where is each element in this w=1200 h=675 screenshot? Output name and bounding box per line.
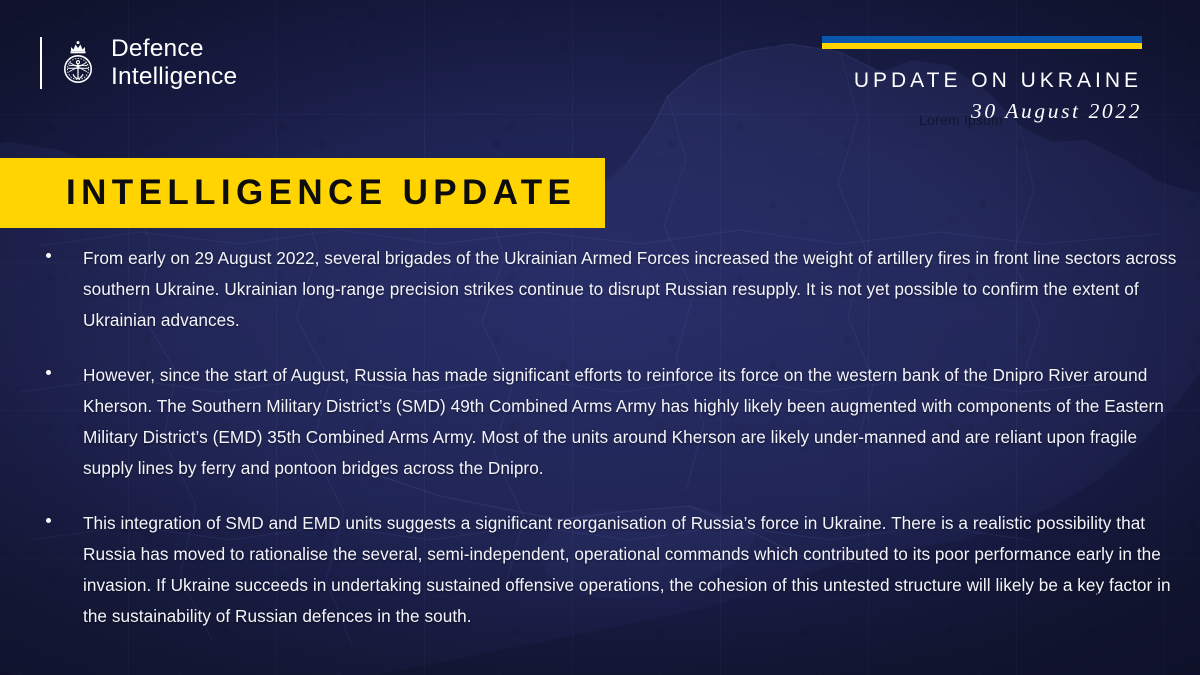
bullet-point-icon <box>40 360 83 375</box>
bullet-list: From early on 29 August 2022, several br… <box>40 243 1180 632</box>
list-item: This integration of SMD and EMD units su… <box>40 508 1180 632</box>
bullet-text: However, since the start of August, Russ… <box>83 360 1180 484</box>
logo-line-defence: Defence <box>111 35 237 63</box>
logo-divider-rule <box>40 37 42 89</box>
list-item: However, since the start of August, Russ… <box>40 360 1180 484</box>
update-date: 30 August 2022 <box>822 99 1142 124</box>
defence-intelligence-logo: Defence Intelligence <box>40 34 237 92</box>
bullet-text: This integration of SMD and EMD units su… <box>83 508 1180 632</box>
logo-line-intelligence: Intelligence <box>111 63 237 91</box>
bullet-point-icon <box>40 508 83 523</box>
logo-wordmark: Defence Intelligence <box>111 35 237 91</box>
ukraine-flag-icon <box>822 36 1142 49</box>
flag-blue-stripe <box>822 36 1142 43</box>
intelligence-update-poster: Defence Intelligence UPDATE ON UKRAINE 3… <box>0 0 1200 675</box>
header-right-block: UPDATE ON UKRAINE 30 August 2022 <box>822 36 1142 124</box>
update-title: UPDATE ON UKRAINE <box>822 69 1142 94</box>
flag-yellow-stripe <box>822 43 1142 49</box>
intelligence-update-banner: INTELLIGENCE UPDATE <box>0 158 605 228</box>
bullet-point-icon <box>40 243 83 258</box>
defence-intelligence-crest-icon <box>58 37 98 89</box>
list-item: From early on 29 August 2022, several br… <box>40 243 1180 336</box>
bullet-text: From early on 29 August 2022, several br… <box>83 243 1180 336</box>
banner-label: INTELLIGENCE UPDATE <box>0 173 576 213</box>
